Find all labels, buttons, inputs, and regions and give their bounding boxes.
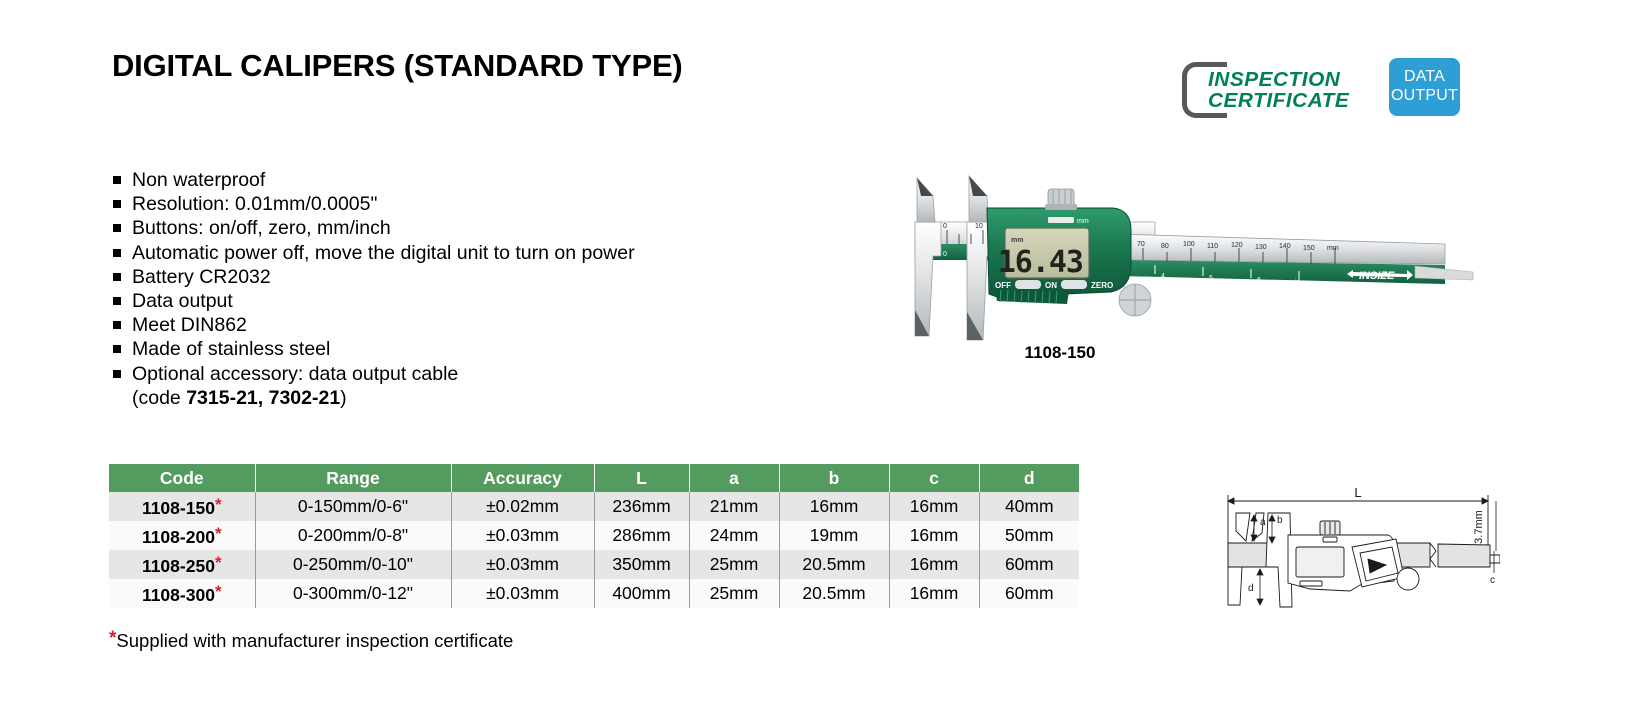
list-item: Data output [113,289,753,313]
column-header-d: d [979,464,1079,492]
list-item: Non waterproof [113,168,753,192]
footnote-text: Supplied with manufacturer inspection ce… [116,630,513,651]
cell-c: 16mm [889,579,979,608]
specification-table: Code Range Accuracy L a b c d 1108-150* … [109,464,1079,608]
certificate-star: * [215,553,222,572]
dim-label-c: c [1490,575,1495,586]
dim-label-d: d [1248,583,1254,594]
cell-a: 21mm [689,492,779,521]
cell-c: 16mm [889,521,979,550]
square-bullet-icon [113,321,121,329]
cell-code: 1108-150* [109,492,255,521]
square-bullet-icon [113,224,121,232]
feature-text: Battery CR2032 [132,265,271,289]
feature-text: Optional accessory: data output cable [132,362,458,386]
svg-text:70: 70 [1137,241,1145,248]
list-item: Battery CR2032 [113,265,753,289]
column-header-range: Range [255,464,451,492]
code-suffix: ) [340,387,347,409]
certificate-line-1: INSPECTION [1208,70,1349,91]
cell-a: 25mm [689,550,779,579]
cell-range: 0-250mm/0-10" [255,550,451,579]
table-row: 1108-300* 0-300mm/0-12" ±0.03mm 400mm 25… [109,579,1079,608]
list-item: Made of stainless steel [113,337,753,361]
dim-label-a: a [1260,517,1266,528]
table-row: 1108-200* 0-200mm/0-8" ±0.03mm 286mm 24m… [109,521,1079,550]
cell-range: 0-200mm/0-8" [255,521,451,550]
certificate-logo-text: INSPECTION CERTIFICATE [1208,70,1349,112]
cell-code: 1108-300* [109,579,255,608]
feature-text: Resolution: 0.01mm/0.0005" [132,192,377,216]
feature-text: Meet DIN862 [132,313,247,337]
square-bullet-icon [113,345,121,353]
cell-b: 16mm [779,492,889,521]
caliper-dimension-diagram: L [1160,455,1500,615]
code-value: 1108-300 [142,585,215,605]
feature-text: Data output [132,289,233,313]
cell-b: 19mm [779,521,889,550]
svg-text:80: 80 [1161,243,1169,250]
svg-text:140: 140 [1279,243,1291,250]
svg-text:0: 0 [943,223,947,230]
cell-accuracy: ±0.03mm [451,579,594,608]
certificate-star: * [215,495,222,514]
list-item: Meet DIN862 [113,313,753,337]
caliper-illustration: 0 10 0 mm mm [855,160,1475,370]
code-value: 1108-200 [142,527,215,547]
button-label-off: OFF [995,281,1011,290]
svg-text:mm: mm [1327,245,1339,252]
square-bullet-icon [113,297,121,305]
data-output-line-1: DATA [1389,67,1460,86]
svg-text:10: 10 [975,223,983,230]
svg-text:100: 100 [1183,241,1195,248]
svg-text:in: in [1295,279,1301,286]
cell-code: 1108-250* [109,550,255,579]
column-header-l: L [594,464,689,492]
cell-accuracy: ±0.03mm [451,550,594,579]
cell-d: 50mm [979,521,1079,550]
column-header-a: a [689,464,779,492]
cell-code: 1108-200* [109,521,255,550]
cell-d: 60mm [979,550,1079,579]
cell-b: 20.5mm [779,550,889,579]
square-bullet-icon [113,200,121,208]
accessory-code-values: 7315-21, 7302-21 [186,387,340,409]
data-output-badge: DATA OUTPUT [1389,58,1460,116]
cell-range: 0-150mm/0-6" [255,492,451,521]
cell-c: 16mm [889,492,979,521]
svg-text:0: 0 [943,251,947,258]
product-photo: 0 10 0 mm mm [855,160,1475,370]
table-row: 1108-250* 0-250mm/0-10" ±0.03mm 350mm 25… [109,550,1079,579]
cell-l: 236mm [594,492,689,521]
column-header-c: c [889,464,979,492]
table-header-row: Code Range Accuracy L a b c d [109,464,1079,492]
cell-accuracy: ±0.02mm [451,492,594,521]
svg-text:INSIZE: INSIZE [1359,270,1395,282]
data-output-line-2: OUTPUT [1389,86,1460,105]
svg-text:150: 150 [1303,245,1315,252]
dim-label-thickness: 3.7mm [1473,510,1485,544]
code-value: 1108-150 [142,498,215,518]
cell-l: 350mm [594,550,689,579]
column-header-accuracy: Accuracy [451,464,594,492]
feature-text: Buttons: on/off, zero, mm/inch [132,216,391,240]
certificate-line-2: CERTIFICATE [1208,91,1349,112]
cell-range: 0-300mm/0-12" [255,579,451,608]
certificate-star: * [215,524,222,543]
list-item: Automatic power off, move the digital un… [113,241,753,265]
cell-c: 16mm [889,550,979,579]
list-item: Optional accessory: data output cable [113,362,753,386]
certificate-star: * [215,582,222,601]
product-caption: 1108-150 [855,343,1265,363]
dim-label-b: b [1277,515,1283,526]
svg-text:130: 130 [1255,244,1267,251]
button-label-zero: ZERO [1091,281,1113,290]
lcd-value: 16.43 [998,245,1083,280]
code-prefix: (code [132,387,186,409]
cell-d: 40mm [979,492,1079,521]
feature-list: Non waterproof Resolution: 0.01mm/0.0005… [113,168,753,410]
cell-accuracy: ±0.03mm [451,521,594,550]
feature-text: Made of stainless steel [132,337,330,361]
svg-text:5: 5 [1209,275,1213,282]
cell-l: 286mm [594,521,689,550]
cell-b: 20.5mm [779,579,889,608]
inspection-certificate-logo: INSPECTION CERTIFICATE [1182,60,1382,122]
dim-label-L: L [1354,485,1361,500]
optional-accessory-codes: (code 7315-21, 7302-21) [113,386,753,410]
list-item: Resolution: 0.01mm/0.0005" [113,192,753,216]
square-bullet-icon [113,249,121,257]
page-title: DIGITAL CALIPERS (STANDARD TYPE) [112,48,683,84]
cell-d: 60mm [979,579,1079,608]
svg-text:4: 4 [1161,273,1165,280]
feature-text: Non waterproof [132,168,265,192]
cell-a: 24mm [689,521,779,550]
svg-text:120: 120 [1231,242,1243,249]
svg-text:mm: mm [1077,218,1089,225]
table-row: 1108-150* 0-150mm/0-6" ±0.02mm 236mm 21m… [109,492,1079,521]
dimension-drawing: L [1160,455,1500,615]
code-value: 1108-250 [142,556,215,576]
feature-text: Automatic power off, move the digital un… [132,241,635,265]
column-header-code: Code [109,464,255,492]
svg-text:6: 6 [1257,277,1261,284]
cell-a: 25mm [689,579,779,608]
table-footnote: *Supplied with manufacturer inspection c… [109,628,513,652]
list-item: Buttons: on/off, zero, mm/inch [113,216,753,240]
svg-text:110: 110 [1207,243,1218,250]
cell-l: 400mm [594,579,689,608]
column-header-b: b [779,464,889,492]
svg-text:mm: mm [1011,237,1023,244]
button-label-on: ON [1045,281,1057,290]
square-bullet-icon [113,176,121,184]
square-bullet-icon [113,370,121,378]
square-bullet-icon [113,273,121,281]
